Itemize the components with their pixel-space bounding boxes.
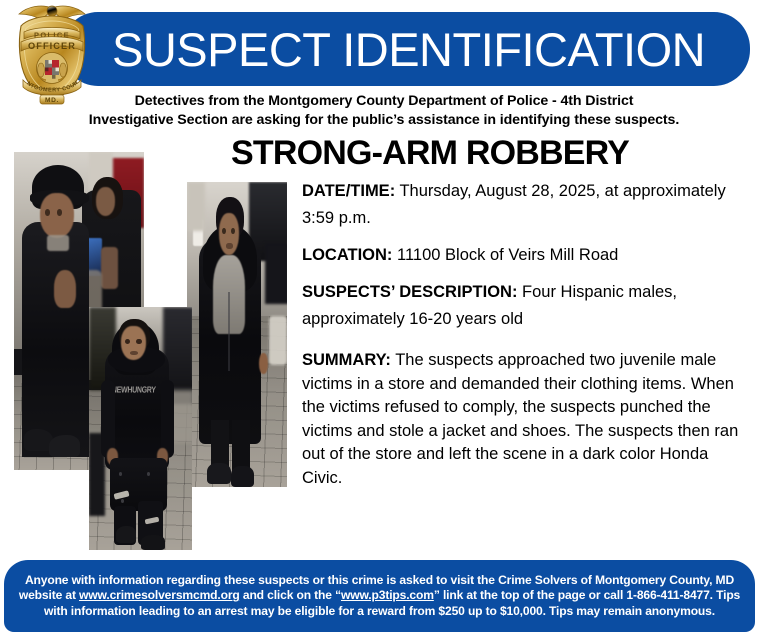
svg-text:OFFICER: OFFICER: [28, 41, 76, 51]
suspect-photo-collage: BONEWHUNGRY: [0, 140, 300, 560]
detail-summary: SUMMARY: The suspects approached two juv…: [302, 349, 752, 490]
detail-location-value: 11100 Block of Veirs Mill Road: [392, 246, 618, 264]
subtitle-line-2: Investigative Section are asking for the…: [20, 111, 748, 130]
page-title: SUSPECT IDENTIFICATION: [112, 16, 732, 82]
footer-banner: Anyone with information regarding these …: [4, 560, 755, 632]
detail-location: LOCATION: 11100 Block of Veirs Mill Road: [302, 242, 752, 269]
detail-summary-value: The suspects approached two juvenile mal…: [302, 351, 738, 487]
footer-text-part-2: and click on the “: [240, 588, 341, 602]
crimesolvers-link[interactable]: www.crimesolversmcmd.org: [79, 588, 240, 602]
police-badge-icon: POLICE OFFICER MONTGOMERY COUNTY: [4, 2, 100, 106]
detail-suspects-description: SUSPECTS’ DESCRIPTION: Four Hispanic mal…: [302, 279, 752, 333]
suspect-photo-center: BONEWHUNGRY: [89, 307, 192, 550]
subtitle: Detectives from the Montgomery County De…: [20, 92, 748, 130]
p3tips-link[interactable]: www.p3tips.com: [341, 588, 434, 602]
footer-text: Anyone with information regarding these …: [17, 573, 743, 619]
detail-date-time: DATE/TIME: Thursday, August 28, 2025, at…: [302, 178, 752, 232]
detail-summary-label: SUMMARY:: [302, 351, 391, 369]
detail-date-time-label: DATE/TIME:: [302, 182, 395, 200]
subtitle-line-1: Detectives from the Montgomery County De…: [20, 92, 748, 111]
svg-text:MD.: MD.: [45, 97, 59, 104]
incident-details: DATE/TIME: Thursday, August 28, 2025, at…: [302, 178, 752, 500]
detail-location-label: LOCATION:: [302, 246, 392, 264]
detail-suspects-description-label: SUSPECTS’ DESCRIPTION:: [302, 283, 517, 301]
suspect-photo-right: [187, 182, 287, 487]
